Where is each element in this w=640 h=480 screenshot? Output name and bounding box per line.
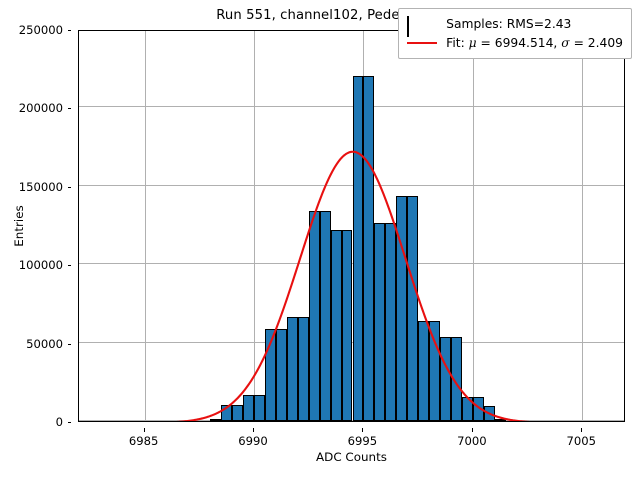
y-tick-label: 200000 <box>19 101 63 115</box>
x-axis-tick-labels: 69856990699570007005 <box>78 428 625 444</box>
x-tick-mark <box>144 428 145 432</box>
x-tick-label: 7005 <box>566 434 596 448</box>
y-tick-mark <box>68 422 72 423</box>
x-tick-mark <box>253 428 254 432</box>
legend-fit-mu-symbol: μ <box>469 36 477 50</box>
x-tick-label: 6995 <box>348 434 378 448</box>
x-tick-mark <box>362 428 363 432</box>
x-tick-mark <box>581 428 582 432</box>
y-tick-label: 0 <box>56 415 63 429</box>
legend-label-fit: Fit: μ = 6994.514, σ = 2.409 <box>446 36 623 50</box>
y-axis-label: Entries <box>12 205 26 246</box>
y-tick-label: 250000 <box>19 23 63 37</box>
legend-item-fit: Fit: μ = 6994.514, σ = 2.409 <box>407 33 623 52</box>
gaussian-fit-curve <box>79 31 624 421</box>
legend-fit-mu-value: = 6994.514, <box>477 36 562 50</box>
chart-legend: Samples: RMS=2.43 Fit: μ = 6994.514, σ =… <box>398 8 632 59</box>
legend-fit-sigma-value: = 2.409 <box>570 36 623 50</box>
y-axis-tick-labels: 050000100000150000200000250000 <box>0 30 71 422</box>
y-tick-mark <box>68 108 72 109</box>
x-tick-label: 6990 <box>238 434 268 448</box>
x-tick-label: 7000 <box>457 434 487 448</box>
y-tick-mark <box>68 344 72 345</box>
legend-fit-prefix: Fit: <box>446 36 468 50</box>
x-axis-label: ADC Counts <box>78 450 625 464</box>
x-tick-mark <box>472 428 473 432</box>
legend-swatch-fit <box>407 36 437 50</box>
y-tick-mark <box>68 265 72 266</box>
figure: Run 551, channel102, Pedestal 0500001000… <box>0 0 640 480</box>
y-tick-label: 100000 <box>19 258 63 272</box>
legend-fit-sigma-symbol: σ <box>561 36 569 50</box>
legend-item-samples: Samples: RMS=2.43 <box>407 14 623 33</box>
y-tick-mark <box>68 187 72 188</box>
y-tick-mark <box>68 30 72 31</box>
legend-label-samples: Samples: RMS=2.43 <box>446 17 571 31</box>
y-tick-label: 150000 <box>19 180 63 194</box>
x-tick-label: 6985 <box>129 434 159 448</box>
plot-axes <box>78 30 625 422</box>
plot-area <box>79 31 624 421</box>
y-tick-label: 50000 <box>26 337 63 351</box>
legend-swatch-samples <box>407 17 437 31</box>
